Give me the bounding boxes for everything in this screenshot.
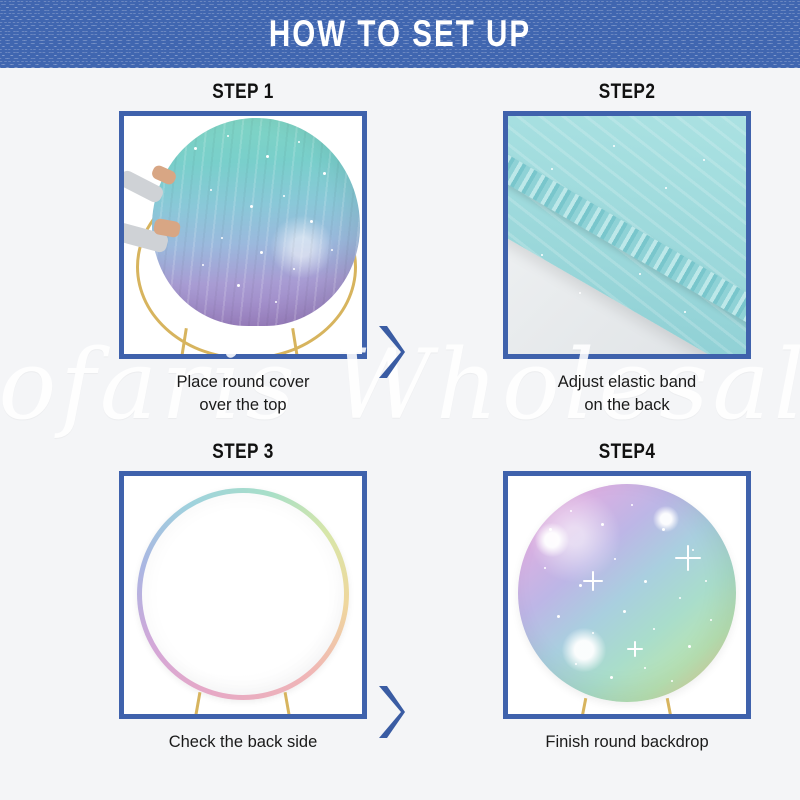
step-caption-3-line1: Check the back side	[78, 731, 408, 754]
step-caption-2-line1: Adjust elastic band	[462, 371, 792, 394]
step-caption-2-line2: on the back	[462, 394, 792, 417]
fabric-folds	[152, 118, 360, 326]
step-caption-4-line1: Finish round backdrop	[462, 731, 792, 754]
step-image-2	[503, 111, 751, 359]
step-image-4	[503, 471, 751, 719]
star-speckles	[518, 484, 736, 702]
pastel-rim-ring	[137, 488, 349, 700]
sparkle-star	[583, 571, 603, 591]
step-label-3: STEP 3	[108, 440, 379, 464]
step-image-3	[119, 471, 367, 719]
gradient-cover-fabric	[152, 118, 360, 326]
step-caption-1-line2: over the top	[78, 394, 408, 417]
step-image-2-content	[508, 116, 746, 354]
white-back-side-surface	[142, 493, 344, 695]
frame-leg-right	[284, 692, 292, 714]
step-label-4: STEP4	[492, 440, 763, 464]
steps-grid: STEP 1	[0, 68, 800, 800]
frame-leg-right	[666, 698, 674, 714]
sparkle-star	[627, 641, 643, 657]
step-image-1	[119, 111, 367, 359]
step-image-1-content	[124, 116, 362, 354]
header-banner: HOW TO SET UP	[0, 0, 800, 68]
frame-leg-left	[194, 692, 202, 714]
sparkle-star	[675, 545, 701, 571]
step-card-4: STEP4	[462, 440, 792, 754]
bokeh-glow	[653, 506, 679, 532]
bokeh-glow	[535, 523, 569, 557]
step-caption-3: Check the back side	[78, 731, 408, 754]
step-image-4-content	[508, 476, 746, 714]
step-card-1: STEP 1	[78, 80, 408, 418]
step-card-3: STEP 3 Check the back side	[78, 440, 408, 754]
frame-leg-left	[580, 698, 588, 714]
step-card-2: STEP2	[462, 80, 792, 418]
step-image-3-content	[124, 476, 362, 714]
finished-backdrop-disc	[518, 484, 736, 702]
page-title: HOW TO SET UP	[80, 0, 720, 68]
step-caption-2: Adjust elastic band on the back	[462, 371, 792, 418]
step-label-2: STEP2	[492, 80, 763, 104]
step-label-1: STEP 1	[108, 80, 379, 104]
bokeh-glow	[562, 628, 606, 672]
step-caption-4: Finish round backdrop	[462, 731, 792, 754]
step-caption-1: Place round cover over the top	[78, 371, 408, 418]
step-caption-1-line1: Place round cover	[78, 371, 408, 394]
